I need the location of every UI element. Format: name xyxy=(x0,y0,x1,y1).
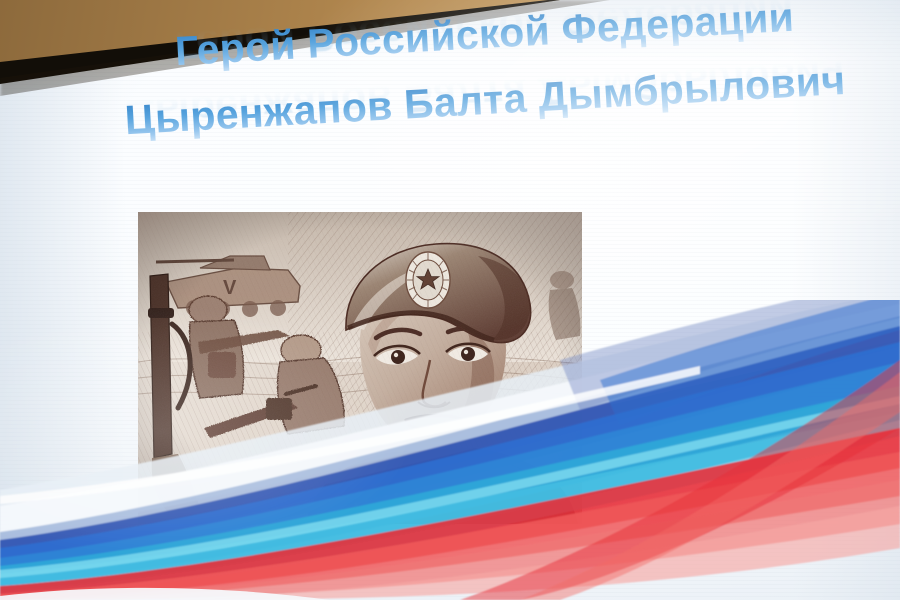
portrait-sketch-soldier: V xyxy=(138,212,582,524)
presentation-slide-photo: V xyxy=(0,0,900,600)
